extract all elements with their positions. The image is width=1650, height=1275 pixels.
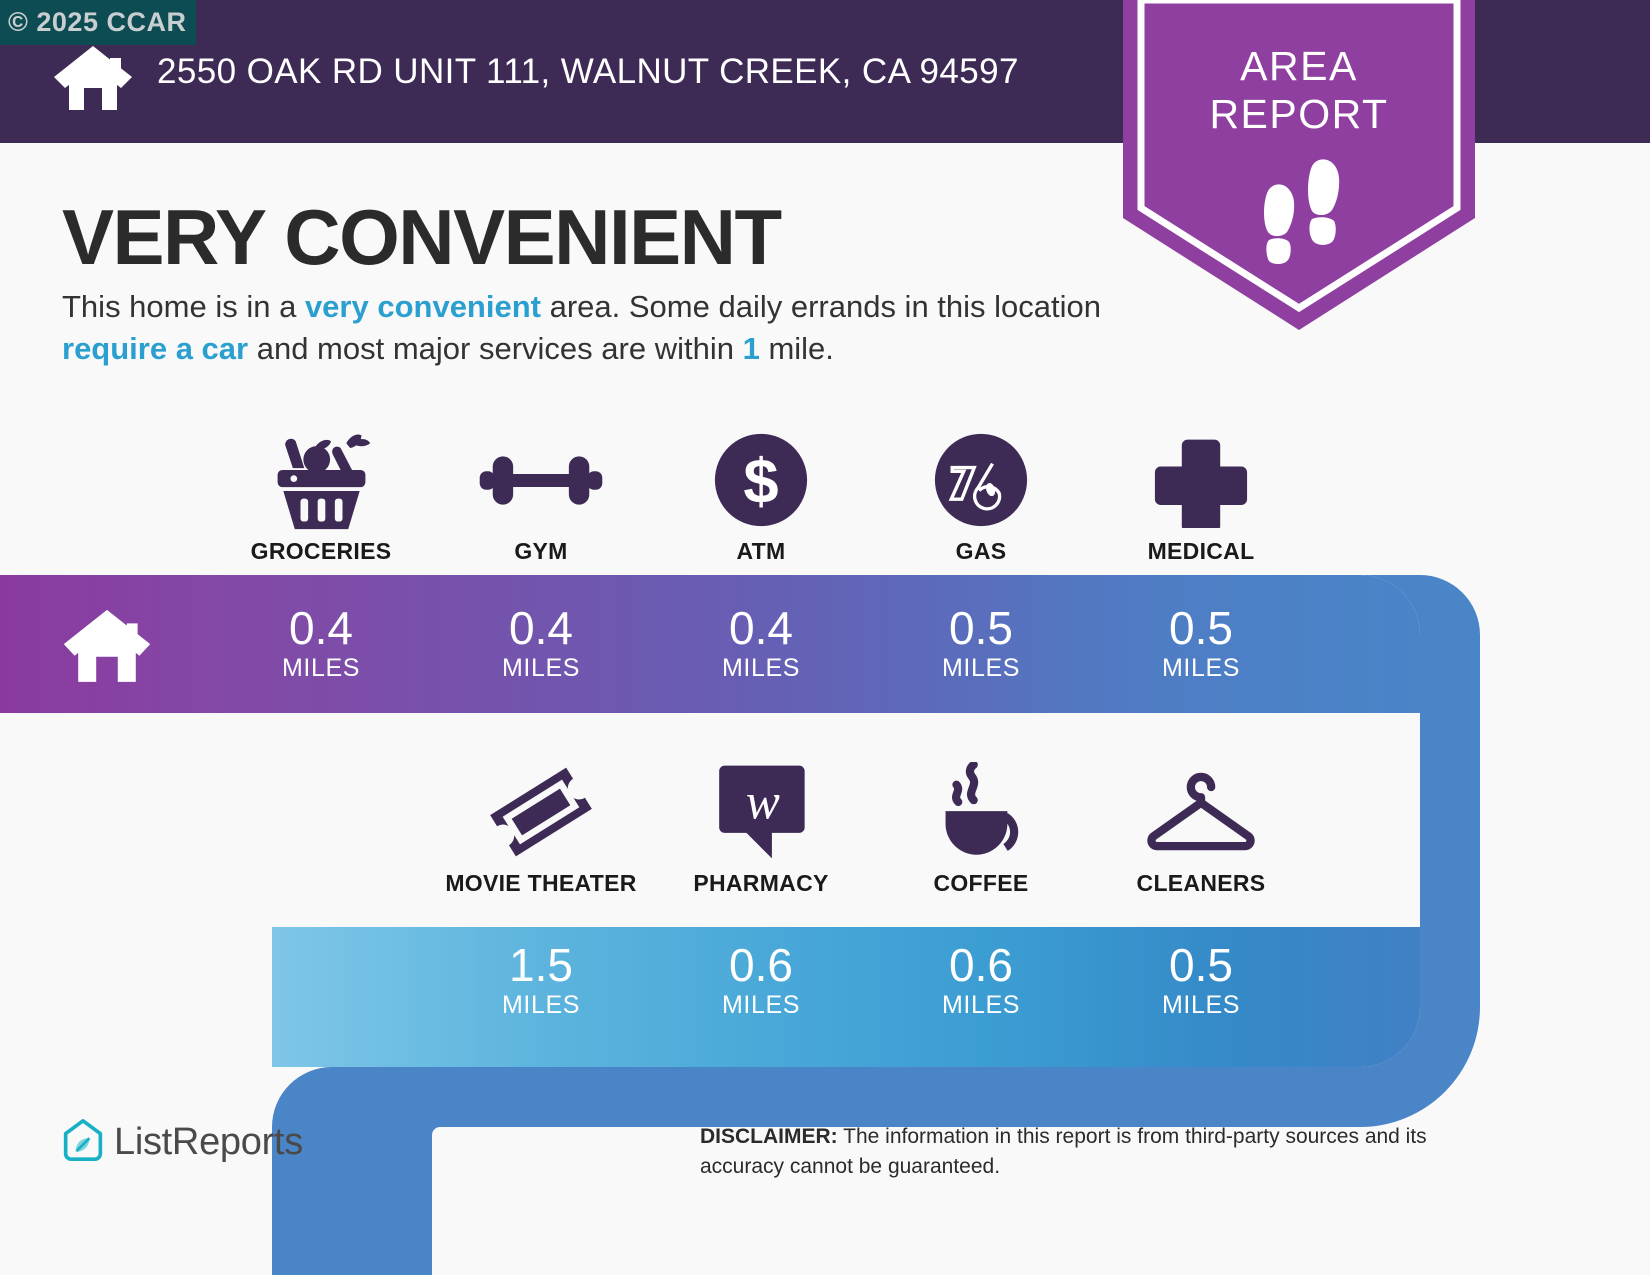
listreports-wordmark: ListReports [114, 1121, 303, 1164]
listreports-logo: ListReports [62, 1118, 303, 1167]
category-gas: GAS [872, 428, 1090, 565]
category-label: GAS [872, 538, 1090, 565]
copyright-watermark: © 2025 CCAR [0, 0, 196, 45]
distance-gym: 0.4 MILES [432, 605, 650, 683]
summary-highlight-2: require a car [62, 331, 248, 366]
distance-gas: 0.5 MILES [872, 605, 1090, 683]
category-gym: GYM [432, 428, 650, 565]
distance-value: 0.5 [1092, 942, 1310, 988]
category-label: PHARMACY [652, 870, 870, 897]
medical-cross-icon [1092, 428, 1310, 532]
summary-highlight-1: very convenient [305, 289, 541, 324]
svg-text:$: $ [743, 447, 778, 517]
movie-ticket-icon [432, 760, 650, 864]
area-report-badge: AREA REPORT [1123, 0, 1475, 330]
distance-unit: MILES [652, 990, 870, 1020]
category-cleaners: CLEANERS [1092, 760, 1310, 897]
clothes-hanger-icon [1092, 760, 1310, 864]
distance-movie-theater: 1.5 MILES [432, 942, 650, 1020]
category-label: GYM [432, 538, 650, 565]
dollar-circle-icon: $ [652, 428, 870, 532]
svg-text:w: w [746, 774, 780, 830]
category-medical: MEDICAL [1092, 428, 1310, 565]
summary-highlight-3: 1 [743, 331, 760, 366]
badge-line-1: AREA [1123, 42, 1475, 90]
summary-part-2: area. Some daily errands in this locatio… [541, 289, 1101, 324]
distance-cleaners: 0.5 MILES [1092, 942, 1310, 1020]
category-label: COFFEE [872, 870, 1090, 897]
distance-value: 0.5 [1092, 605, 1310, 651]
category-groceries: GROCERIES [212, 428, 430, 565]
distance-unit: MILES [1092, 653, 1310, 683]
distance-value: 0.4 [432, 605, 650, 651]
distance-groceries: 0.4 MILES [212, 605, 430, 683]
category-pharmacy: w PHARMACY [652, 760, 870, 897]
dumbbell-icon [432, 428, 650, 532]
category-label: ATM [652, 538, 870, 565]
listreports-house-leaf-icon [62, 1118, 104, 1167]
category-label: CLEANERS [1092, 870, 1310, 897]
home-icon [52, 44, 134, 110]
distance-pharmacy: 0.6 MILES [652, 942, 870, 1020]
distance-unit: MILES [432, 653, 650, 683]
property-address: 2550 OAK RD UNIT 111, WALNUT CREEK, CA 9… [157, 52, 1019, 92]
category-coffee: COFFEE [872, 760, 1090, 897]
area-report-page: © 2025 CCAR 2550 OAK RD UNIT 111, WALNUT… [0, 0, 1650, 1275]
category-movie-theater: MOVIE THEATER [432, 760, 650, 897]
distance-unit: MILES [872, 653, 1090, 683]
distance-unit: MILES [212, 653, 430, 683]
distance-unit: MILES [872, 990, 1090, 1020]
distance-value: 1.5 [432, 942, 650, 988]
disclaimer: DISCLAIMER: The information in this repo… [700, 1122, 1510, 1182]
distance-atm: 0.4 MILES [652, 605, 870, 683]
summary-part-1: This home is in a [62, 289, 305, 324]
summary-part-4: mile. [760, 331, 834, 366]
distance-medical: 0.5 MILES [1092, 605, 1310, 683]
grocery-basket-icon [212, 428, 430, 532]
disclaimer-label: DISCLAIMER: [700, 1125, 838, 1148]
distance-unit: MILES [432, 990, 650, 1020]
category-label: MOVIE THEATER [432, 870, 650, 897]
distance-value: 0.6 [652, 942, 870, 988]
summary-paragraph: This home is in a very convenient area. … [62, 286, 1102, 370]
distance-value: 0.6 [872, 942, 1090, 988]
distance-coffee: 0.6 MILES [872, 942, 1090, 1020]
distance-unit: MILES [1092, 990, 1310, 1020]
category-label: GROCERIES [212, 538, 430, 565]
page-title: VERY CONVENIENT [62, 192, 781, 283]
walgreens-w-icon: w [652, 760, 870, 864]
distance-value: 0.5 [872, 605, 1090, 651]
badge-title: AREA REPORT [1123, 42, 1475, 138]
summary-part-3: and most major services are within [248, 331, 742, 366]
coffee-cup-icon [872, 760, 1090, 864]
distance-value: 0.4 [652, 605, 870, 651]
category-atm: $ ATM [652, 428, 870, 565]
gas-76-icon [872, 428, 1090, 532]
category-label: MEDICAL [1092, 538, 1310, 565]
badge-line-2: REPORT [1123, 90, 1475, 138]
distance-unit: MILES [652, 653, 870, 683]
distance-value: 0.4 [212, 605, 430, 651]
home-location-marker [62, 608, 152, 687]
